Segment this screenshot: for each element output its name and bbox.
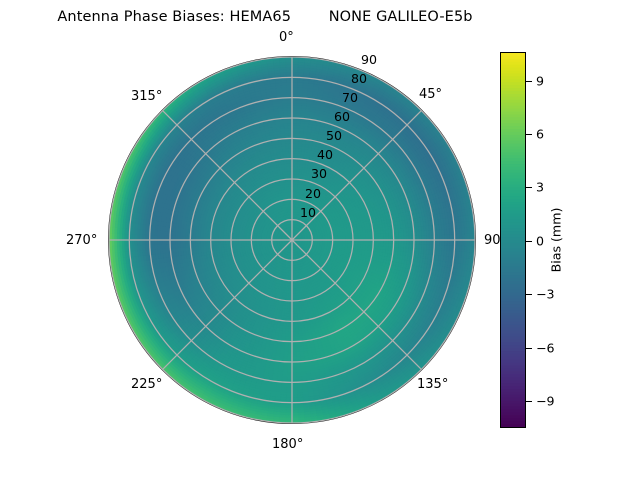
r-tick-30: 30 <box>311 166 327 181</box>
theta-tick-270: 270° <box>66 233 97 248</box>
colorbar-tick-mark <box>526 134 532 135</box>
colorbar-tick-mark <box>526 401 532 402</box>
colorbar-tick-label: 3 <box>536 180 544 195</box>
theta-tick-315: 315° <box>131 89 162 104</box>
colorbar-tick-label: 6 <box>536 126 544 141</box>
colorbar[interactable]: −9−6−30369 <box>500 52 526 428</box>
polar-axes[interactable] <box>108 56 476 424</box>
theta-tick-225: 225° <box>131 377 162 392</box>
theta-tick-90: 90 <box>484 233 501 248</box>
theta-tick-135: 135° <box>417 377 448 392</box>
theta-tick-0: 0° <box>279 30 294 45</box>
polar-data-disc <box>108 56 476 424</box>
r-tick-70: 70 <box>342 90 358 105</box>
colorbar-tick-label: −3 <box>536 287 555 302</box>
theta-tick-45: 45° <box>419 87 442 102</box>
theta-tick-180: 180° <box>272 437 303 452</box>
colorbar-axis-label: Bias (mm) <box>549 208 564 273</box>
colorbar-tick-label: 0 <box>536 233 544 248</box>
r-tick-40: 40 <box>317 147 333 162</box>
figure-canvas: Antenna Phase Biases: HEMA65 NONE GALILE… <box>0 0 640 480</box>
colorbar-tick-mark <box>526 348 532 349</box>
figure-title: Antenna Phase Biases: HEMA65 NONE GALILE… <box>0 9 530 25</box>
colorbar-tick-mark <box>526 81 532 82</box>
colorbar-tick-mark <box>526 241 532 242</box>
r-tick-20: 20 <box>305 186 321 201</box>
r-tick-50: 50 <box>326 128 342 143</box>
polar-bias-field <box>108 56 476 424</box>
colorbar-tick-label: −6 <box>536 340 555 355</box>
colorbar-gradient <box>500 52 526 428</box>
colorbar-tick-label: −9 <box>536 394 555 409</box>
r-tick-90: 90 <box>361 52 377 67</box>
colorbar-tick-mark <box>526 187 532 188</box>
r-tick-80: 80 <box>351 71 367 86</box>
r-tick-60: 60 <box>334 109 350 124</box>
colorbar-tick-label: 9 <box>536 73 544 88</box>
r-tick-10: 10 <box>300 205 316 220</box>
colorbar-tick-mark <box>526 294 532 295</box>
